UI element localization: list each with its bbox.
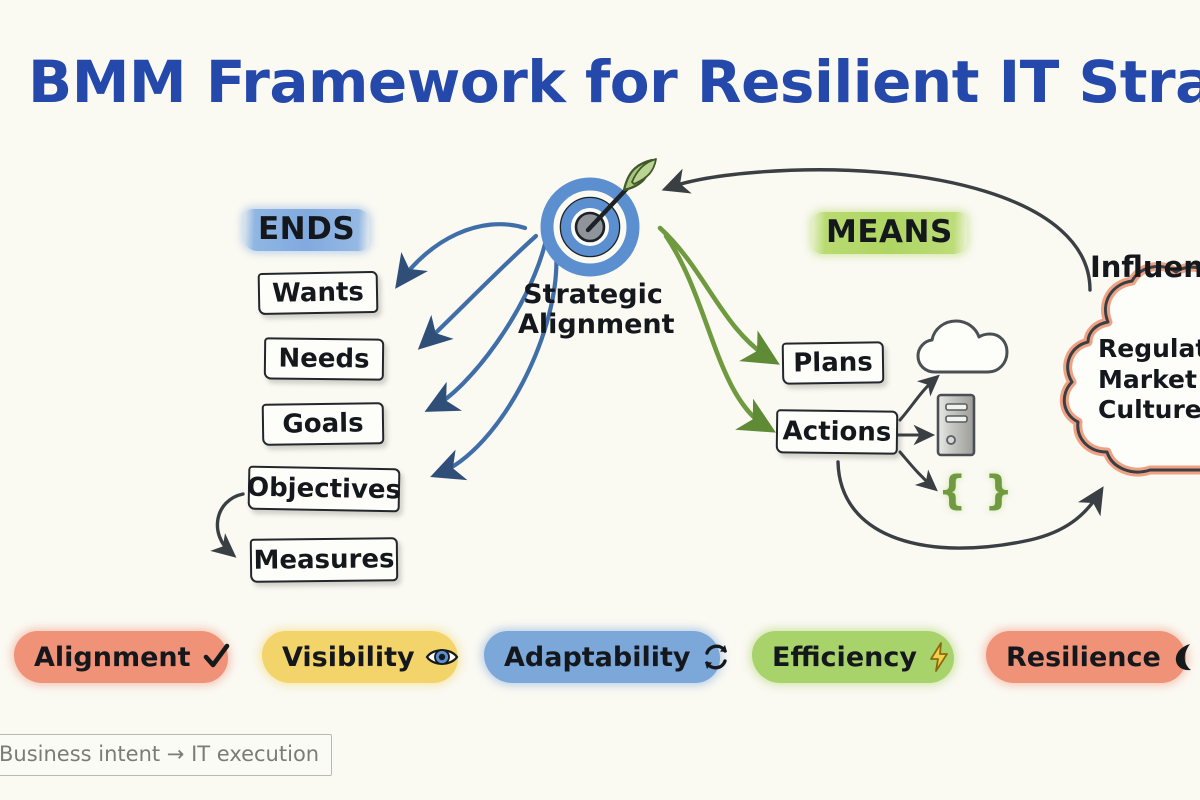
ends-arrows: [400, 224, 556, 474]
refresh-icon: [701, 642, 731, 672]
caption-box: Business intent → IT execution: [0, 734, 332, 776]
influencers-cloud-text: Regulations Market Trends Culture: [1098, 334, 1200, 426]
means-node-plans[interactable]: Plans: [782, 341, 885, 384]
ends-node-wants[interactable]: Wants: [258, 271, 379, 315]
badge-alignment-label: Alignment: [34, 642, 191, 673]
badge-alignment[interactable]: Alignment: [14, 631, 228, 683]
bolt-icon: [927, 642, 951, 672]
strategic-alignment-line2: Alignment: [518, 310, 668, 340]
badge-adaptability[interactable]: Adaptability: [484, 631, 720, 683]
ends-node-goals[interactable]: Goals: [262, 402, 385, 446]
cloud-icon: [918, 321, 1007, 372]
objectives-to-measures-arrow: [217, 494, 243, 554]
badge-visibility-label: Visibility: [282, 642, 415, 673]
section-header-means: MEANS: [812, 212, 967, 254]
strategic-alignment-label: Strategic Alignment: [518, 280, 668, 340]
badge-resilience[interactable]: Resilience: [986, 631, 1186, 683]
target-bullseye-icon: [543, 159, 656, 274]
strategic-alignment-line1: Strategic: [518, 280, 668, 310]
page-title: BMM Framework for Resilient IT Strategy: [28, 48, 1200, 116]
check-icon: [201, 642, 231, 672]
influencers-title: Influencers: [1090, 250, 1200, 284]
ends-node-objectives[interactable]: Objectives: [248, 466, 401, 513]
ends-node-measures[interactable]: Measures: [250, 537, 398, 583]
moon-icon: [1171, 642, 1197, 672]
ends-node-needs[interactable]: Needs: [264, 337, 384, 380]
code-braces-icon: { }: [938, 468, 1015, 514]
influencer-item-regulations: Regulations: [1098, 334, 1200, 365]
means-node-actions[interactable]: Actions: [776, 409, 899, 454]
means-arrows: [660, 228, 772, 428]
tech-arrows: [898, 378, 936, 488]
badge-resilience-label: Resilience: [1006, 642, 1161, 673]
section-header-ends: ENDS: [244, 209, 369, 251]
badge-efficiency[interactable]: Efficiency: [752, 631, 954, 683]
badge-visibility[interactable]: Visibility: [262, 631, 458, 683]
badge-adaptability-label: Adaptability: [504, 642, 691, 673]
server-icon: [938, 395, 974, 455]
badge-efficiency-label: Efficiency: [772, 642, 917, 673]
influencer-item-culture: Culture: [1098, 395, 1200, 426]
influencer-item-market-trends: Market Trends: [1098, 365, 1200, 396]
eye-icon: [425, 644, 459, 670]
